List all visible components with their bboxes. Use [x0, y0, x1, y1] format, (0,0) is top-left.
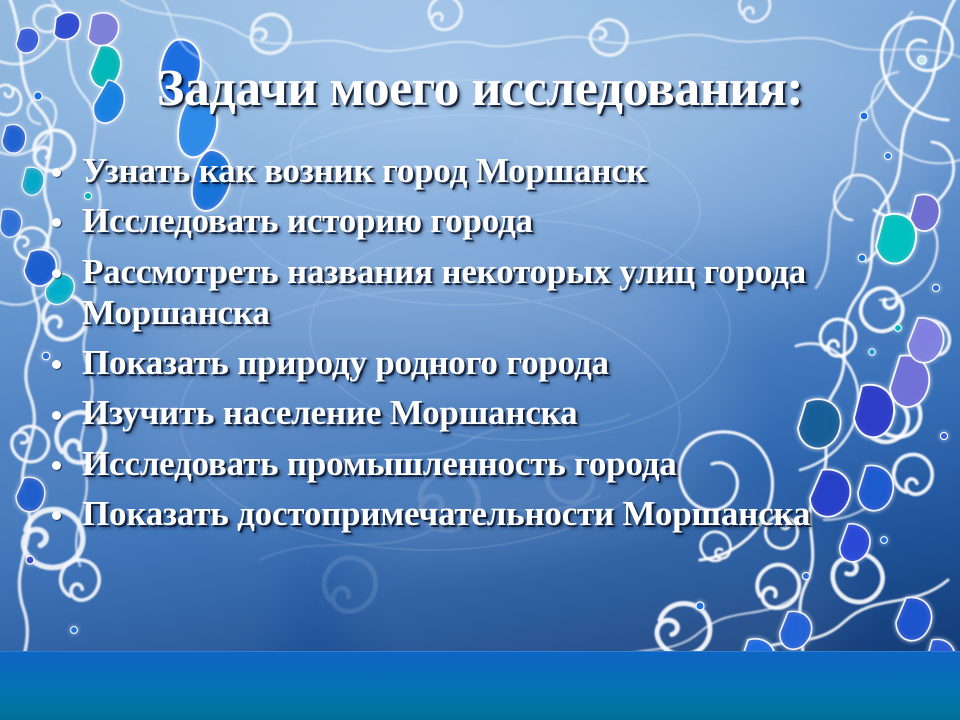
- bullet-dot-icon: [52, 168, 61, 177]
- list-item: Изучить население Моршанска: [38, 392, 918, 433]
- list-item-label: Исследовать историю города: [82, 201, 533, 240]
- list-item-label: Показать природу родного города: [82, 343, 609, 382]
- bullet-dot-icon: [52, 461, 61, 470]
- list-item: Показать природу родного города: [38, 342, 918, 383]
- list-item: Рассмотреть названия некоторых улиц горо…: [38, 251, 918, 334]
- bullet-dot-icon: [52, 511, 61, 520]
- list-item-label: Показать достопримечательности Моршанска: [82, 494, 810, 533]
- list-item: Узнать как возник город Моршанск: [38, 150, 918, 191]
- bullet-dot-icon: [52, 360, 61, 369]
- list-item: Исследовать историю города: [38, 200, 918, 241]
- bullet-dot-icon: [52, 218, 61, 227]
- slide-content: Задачи моего исследования: Узнать как во…: [0, 0, 960, 720]
- bullet-dot-icon: [52, 411, 61, 420]
- list-item-label: Рассмотреть названия некоторых улиц горо…: [82, 252, 806, 332]
- slide-canvas: Задачи моего исследования: Узнать как во…: [0, 0, 960, 720]
- list-item-label: Изучить население Моршанска: [82, 393, 577, 432]
- list-item: Исследовать промышленность города: [38, 443, 918, 484]
- objectives-list: Узнать как возник город Моршанск Исследо…: [38, 150, 918, 543]
- bullet-dot-icon: [52, 269, 61, 278]
- footer-band: [0, 651, 960, 720]
- page-title: Задачи моего исследования:: [0, 62, 960, 115]
- list-item-label: Исследовать промышленность города: [82, 444, 677, 483]
- list-item-label: Узнать как возник город Моршанск: [82, 151, 647, 190]
- list-item: Показать достопримечательности Моршанска: [38, 493, 918, 534]
